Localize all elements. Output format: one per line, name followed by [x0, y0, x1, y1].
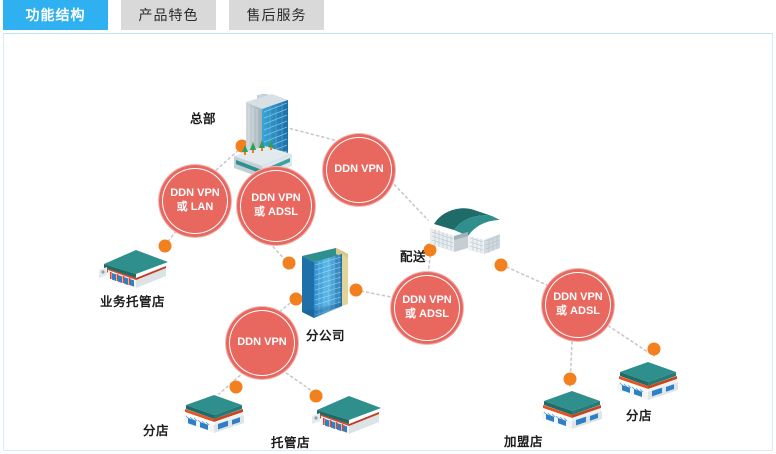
node-distribution-label: 配送 — [400, 246, 426, 265]
vpn-node-dist-left[interactable]: DDN VPN 或 ADSL — [391, 272, 463, 344]
tab-content-panel: 总部 — [3, 33, 773, 451]
vpn-node-hq-right[interactable]: DDN VPN — [323, 134, 395, 206]
vpn-label-line1: DDN VPN — [402, 294, 452, 308]
flat-roof-store-icon — [176, 393, 250, 435]
warehouse-icon — [428, 206, 504, 258]
tab-after-sales-service[interactable]: 售后服务 — [229, 0, 324, 30]
tab-product-features[interactable]: 产品特色 — [121, 0, 216, 30]
flat-roof-store-icon — [610, 360, 684, 402]
vpn-label-line1: DDN VPN — [553, 291, 603, 305]
vpn-label-line2: 或 ADSL — [556, 305, 600, 319]
vpn-node-hq-mid[interactable]: DDN VPN 或 ADSL — [237, 167, 315, 245]
pitched-roof-store-icon — [96, 248, 176, 290]
flat-roof-store-icon — [534, 389, 608, 431]
node-franchise-store-label: 加盟店 — [504, 431, 543, 450]
vpn-label-line2: 或 ADSL — [405, 308, 449, 322]
node-headquarters-label: 总部 — [190, 108, 216, 127]
node-branch-store-2-label: 分店 — [626, 405, 652, 424]
tab-bar: 功能结构 产品特色 售后服务 — [0, 0, 324, 30]
vpn-label-line1: DDN VPN — [251, 192, 301, 206]
network-diagram: 总部 — [4, 34, 773, 451]
vpn-node-hq-left[interactable]: DDN VPN 或 LAN — [159, 165, 231, 237]
vpn-label-line2: 或 ADSL — [254, 206, 298, 220]
vpn-label-line2: 或 LAN — [177, 201, 214, 215]
node-branch-office-label: 分公司 — [306, 325, 345, 344]
curved-tower-icon — [296, 246, 354, 328]
node-branch-store-1-label: 分店 — [143, 420, 169, 439]
page-root: 功能结构 产品特色 售后服务 — [0, 0, 776, 454]
vpn-node-dist-right[interactable]: DDN VPN 或 ADSL — [542, 269, 614, 341]
node-managed-store-label: 托管店 — [271, 432, 310, 451]
vpn-node-branch-bottom[interactable]: DDN VPN — [226, 307, 298, 379]
vpn-label-line1: DDN VPN — [170, 187, 220, 201]
vpn-label-line1: DDN VPN — [334, 163, 384, 177]
vpn-label-line1: DDN VPN — [237, 336, 287, 350]
node-business-store-label: 业务托管店 — [100, 291, 165, 310]
pitched-roof-store-icon — [309, 394, 389, 436]
tab-function-structure[interactable]: 功能结构 — [3, 0, 108, 30]
